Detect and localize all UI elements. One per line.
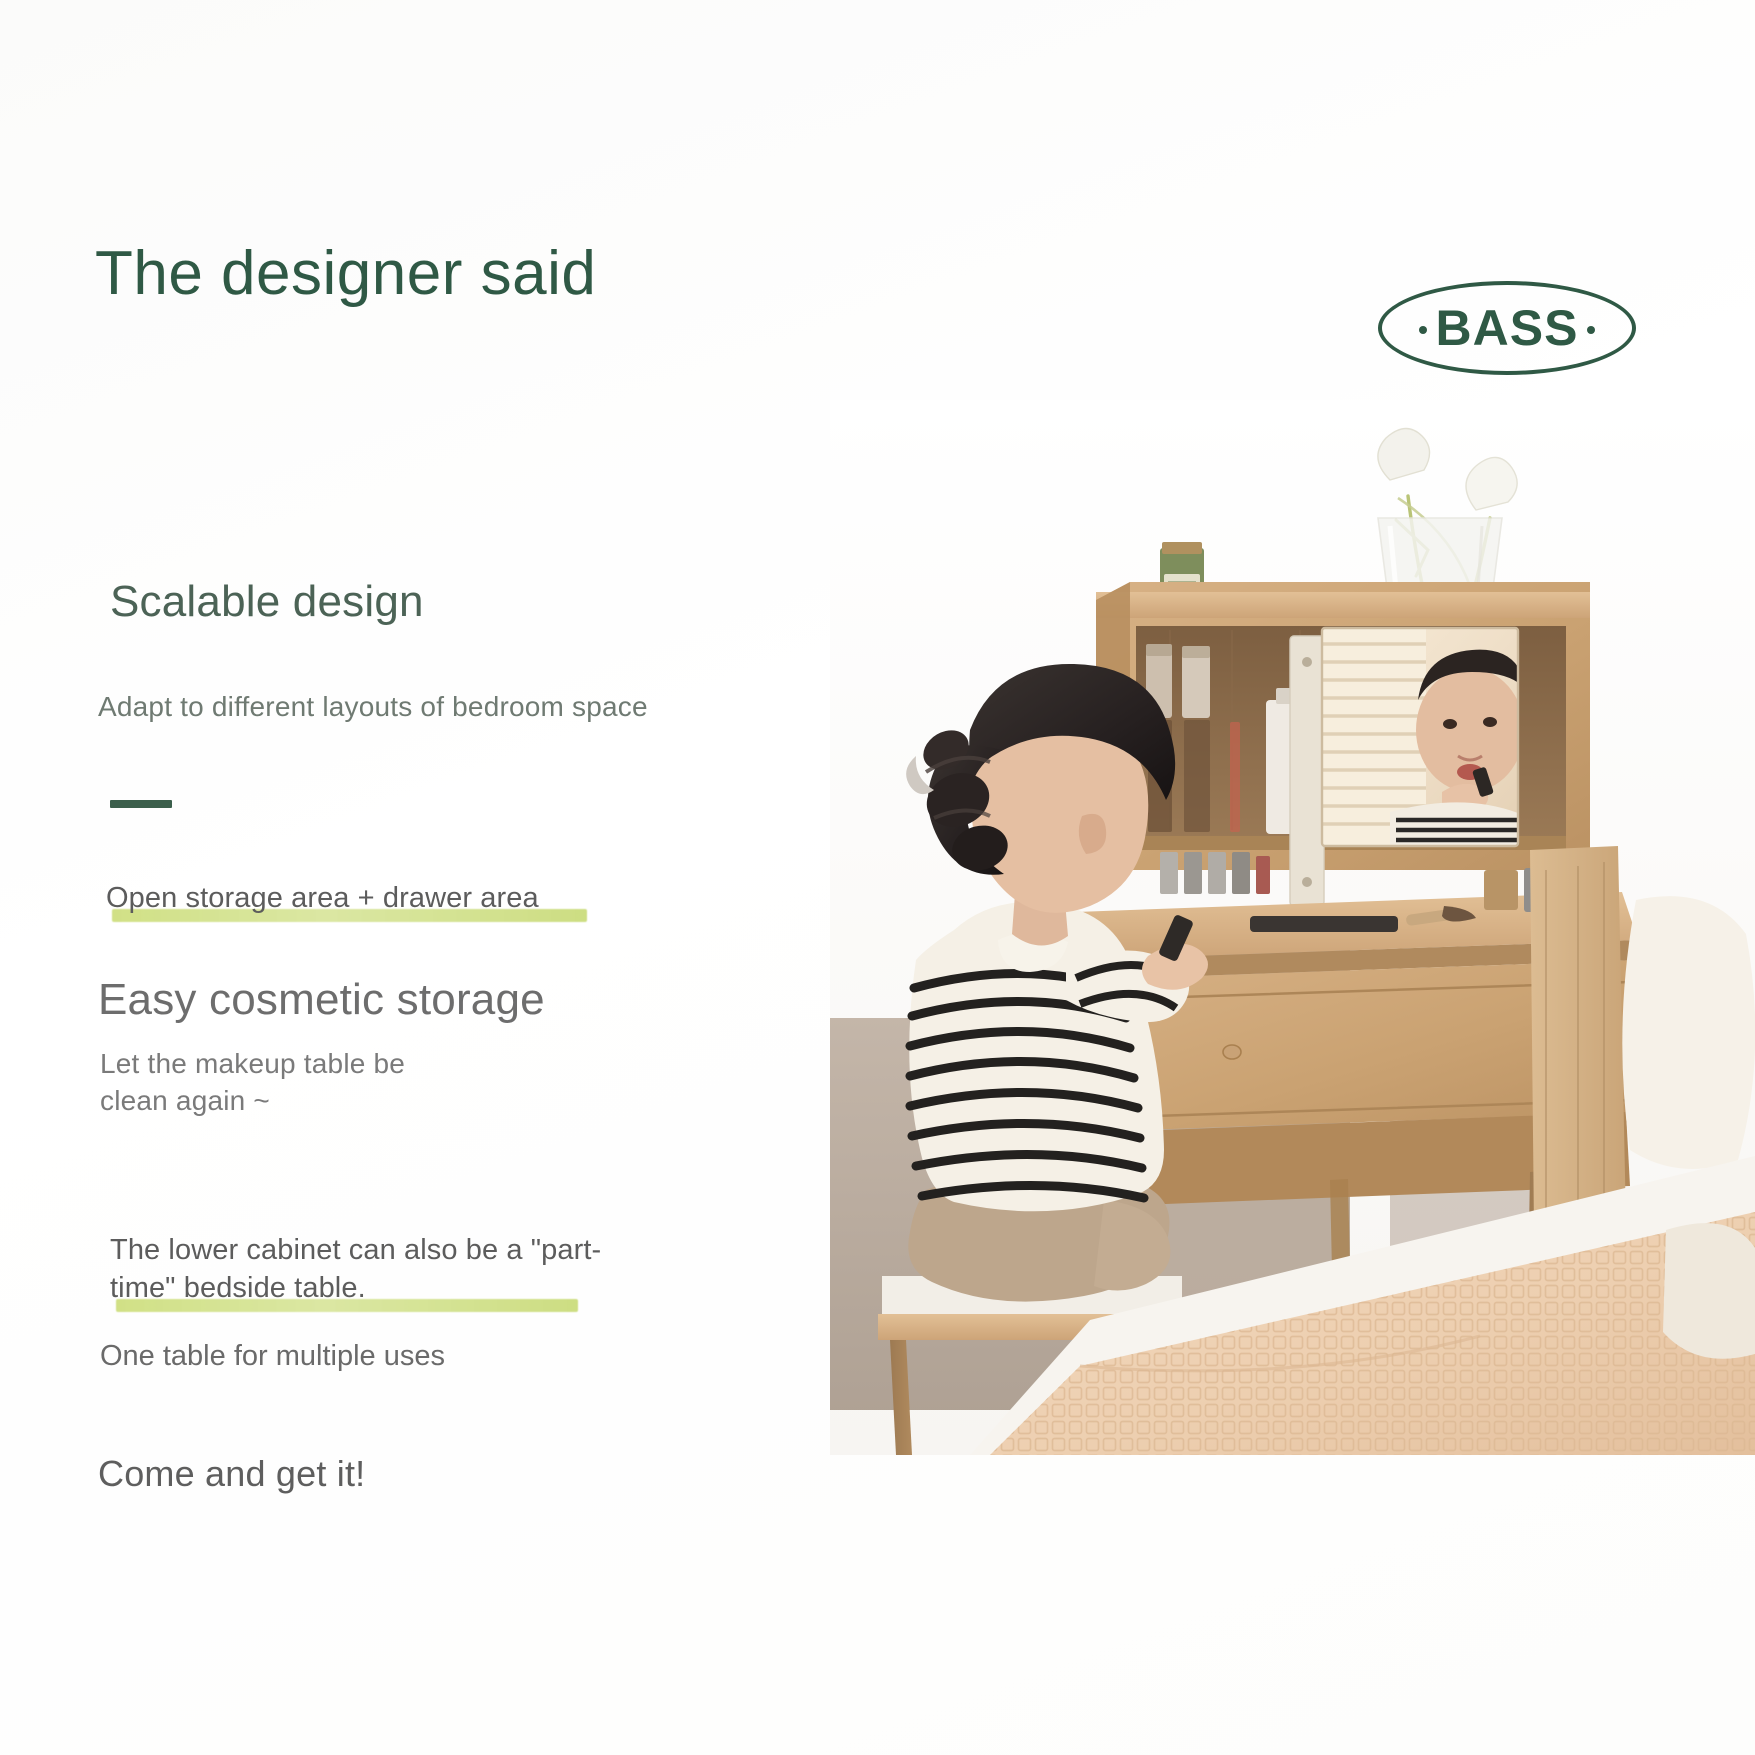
hutch-top-rail: [1096, 592, 1590, 618]
marker-wrap-storage: Open storage area + drawer area: [106, 880, 539, 918]
drawer-knob: [1223, 1045, 1241, 1059]
section-subtitle-multiple-uses: One table for multiple uses: [100, 1340, 445, 1373]
section-divider-rule: [110, 800, 172, 808]
product-detail-page: The designer said BASS Scalable design A…: [0, 0, 1755, 1755]
highlight-text-cabinet-line1: The lower cabinet can also be a "part-: [110, 1232, 670, 1270]
section-subtitle-cosmetic-line2: clean again ~: [100, 1085, 270, 1117]
call-to-action-text: Come and get it!: [98, 1453, 365, 1495]
woman-in-striped-sweater: [906, 664, 1208, 1302]
mirror-hinge-strap: [1290, 636, 1324, 906]
marker-wrap-cabinet: time" bedside table.: [110, 1270, 366, 1308]
section-subtitle-cosmetic-line1: Let the makeup table be: [100, 1048, 405, 1080]
lifestyle-product-photo: [830, 400, 1755, 1455]
section-subtitle-scalable-design: Adapt to different layouts of bedroom sp…: [98, 691, 648, 723]
bed-pillow: [1622, 896, 1755, 1169]
hinge-screw-bottom-icon: [1302, 877, 1312, 887]
highlight-text-cabinet-line2: time" bedside table.: [110, 1272, 366, 1304]
logo-left-dot-icon: [1419, 326, 1427, 334]
highlight-text-storage: Open storage area + drawer area: [106, 882, 539, 914]
highlight-open-storage-area: Open storage area + drawer area: [106, 880, 539, 918]
eyeshadow-palette: [1250, 916, 1398, 932]
product-scene-illustration: [830, 400, 1755, 1455]
bass-brand-logo: BASS: [1378, 281, 1636, 375]
section-heading-scalable-design: Scalable design: [110, 577, 424, 627]
section-heading-easy-cosmetic-storage: Easy cosmetic storage: [98, 975, 545, 1025]
hinge-screw-top-icon: [1302, 657, 1312, 667]
logo-right-dot-icon: [1587, 326, 1595, 334]
gold-compact: [1484, 870, 1518, 910]
marketing-copy-column: Scalable design Adapt to different layou…: [0, 0, 820, 1755]
bed-throw: [1663, 1223, 1755, 1359]
logo-wordmark: BASS: [1378, 281, 1636, 375]
logo-brand-name: BASS: [1436, 299, 1579, 357]
highlight-lower-cabinet: The lower cabinet can also be a "part- t…: [110, 1232, 670, 1307]
